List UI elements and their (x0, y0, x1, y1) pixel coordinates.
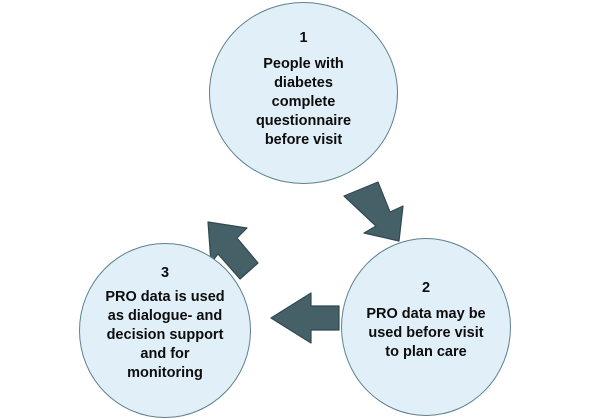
cycle-node-1-number: 1 (299, 29, 307, 47)
cycle-node-2[interactable]: 2 PRO data may be used before visit to p… (341, 238, 511, 416)
cycle-node-1[interactable]: 1 People with diabetes complete question… (209, 2, 398, 184)
cycle-node-3-text: PRO data is used as dialogue- and decisi… (99, 288, 230, 382)
cycle-node-3-number: 3 (161, 264, 169, 282)
arrow-1-to-2 (344, 182, 403, 241)
cycle-diagram: 1 People with diabetes complete question… (0, 0, 600, 419)
arrow-2-to-3 (271, 293, 339, 343)
cycle-node-3[interactable]: 3 PRO data is used as dialogue- and deci… (79, 243, 251, 418)
cycle-node-1-text: People with diabetes complete questionna… (250, 55, 357, 149)
cycle-node-2-text: PRO data may be used before visit to pla… (360, 305, 491, 362)
cycle-node-2-number: 2 (422, 279, 430, 297)
